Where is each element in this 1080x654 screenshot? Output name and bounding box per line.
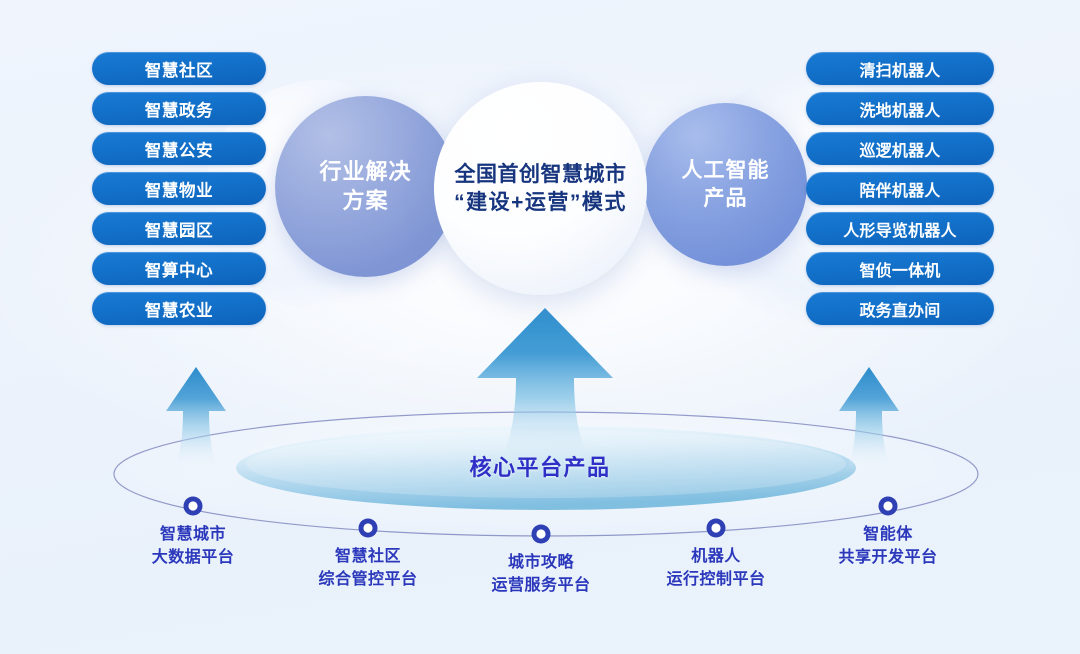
sphere-center-line2: “建设+运营”模式	[454, 189, 627, 216]
node-label-4[interactable]: 机器人 运行控制平台	[666, 546, 765, 591]
sphere-right-line1: 人工智能	[682, 157, 770, 184]
pill-product-5[interactable]: 人形导览机器人	[806, 212, 994, 245]
node-label-1-line2: 大数据平台	[152, 547, 235, 570]
sphere-industry-solutions[interactable]: 行业解决 方案	[275, 96, 456, 277]
diagram-canvas: 智慧社区 智慧政务 智慧公安 智慧物业 智慧园区 智算中心 智慧农业 清扫机器人…	[0, 0, 1080, 654]
pill-industry-6[interactable]: 智算中心	[92, 252, 266, 285]
industry-solutions-list: 智慧社区 智慧政务 智慧公安 智慧物业 智慧园区 智算中心 智慧农业	[92, 52, 266, 325]
sphere-left-line2: 方案	[319, 187, 411, 216]
node-label-3-line2: 运营服务平台	[491, 575, 590, 598]
pill-product-6[interactable]: 智侦一体机	[806, 252, 994, 285]
node-label-1[interactable]: 智慧城市 大数据平台	[152, 524, 235, 569]
node-label-5-line2: 共享开发平台	[838, 547, 937, 570]
pill-product-7[interactable]: 政务直办间	[806, 292, 994, 325]
node-label-5-line1: 智能体	[838, 524, 937, 547]
node-label-2[interactable]: 智慧社区 综合管控平台	[318, 546, 417, 591]
sphere-left-line1: 行业解决	[319, 158, 411, 187]
core-platform-label: 核心平台产品	[0, 450, 1080, 482]
node-label-4-line1: 机器人	[666, 546, 765, 569]
node-label-4-line2: 运行控制平台	[666, 569, 765, 592]
pill-industry-2[interactable]: 智慧政务	[92, 92, 266, 125]
node-label-5[interactable]: 智能体 共享开发平台	[838, 524, 937, 569]
pill-product-2[interactable]: 洗地机器人	[806, 92, 994, 125]
sphere-ai-products[interactable]: 人工智能 产品	[644, 103, 807, 266]
node-label-3[interactable]: 城市攻略 运营服务平台	[491, 552, 590, 597]
pill-product-1[interactable]: 清扫机器人	[806, 52, 994, 85]
pill-industry-1[interactable]: 智慧社区	[92, 52, 266, 85]
node-label-3-line1: 城市攻略	[491, 552, 590, 575]
pill-product-3[interactable]: 巡逻机器人	[806, 132, 994, 165]
node-label-2-line2: 综合管控平台	[318, 569, 417, 592]
ai-products-list: 清扫机器人 洗地机器人 巡逻机器人 陪伴机器人 人形导览机器人 智侦一体机 政务…	[806, 52, 994, 325]
sphere-right-line2: 产品	[682, 185, 770, 212]
sphere-center-line1: 全国首创智慧城市	[454, 161, 627, 188]
pill-industry-3[interactable]: 智慧公安	[92, 132, 266, 165]
pill-industry-4[interactable]: 智慧物业	[92, 172, 266, 205]
sphere-core-model[interactable]: 全国首创智慧城市 “建设+运营”模式	[434, 82, 647, 295]
node-label-1-line1: 智慧城市	[152, 524, 235, 547]
node-label-2-line1: 智慧社区	[318, 546, 417, 569]
arrow-up-icon-center	[470, 306, 620, 474]
pill-industry-5[interactable]: 智慧园区	[92, 212, 266, 245]
pill-product-4[interactable]: 陪伴机器人	[806, 172, 994, 205]
pill-industry-7[interactable]: 智慧农业	[92, 292, 266, 325]
